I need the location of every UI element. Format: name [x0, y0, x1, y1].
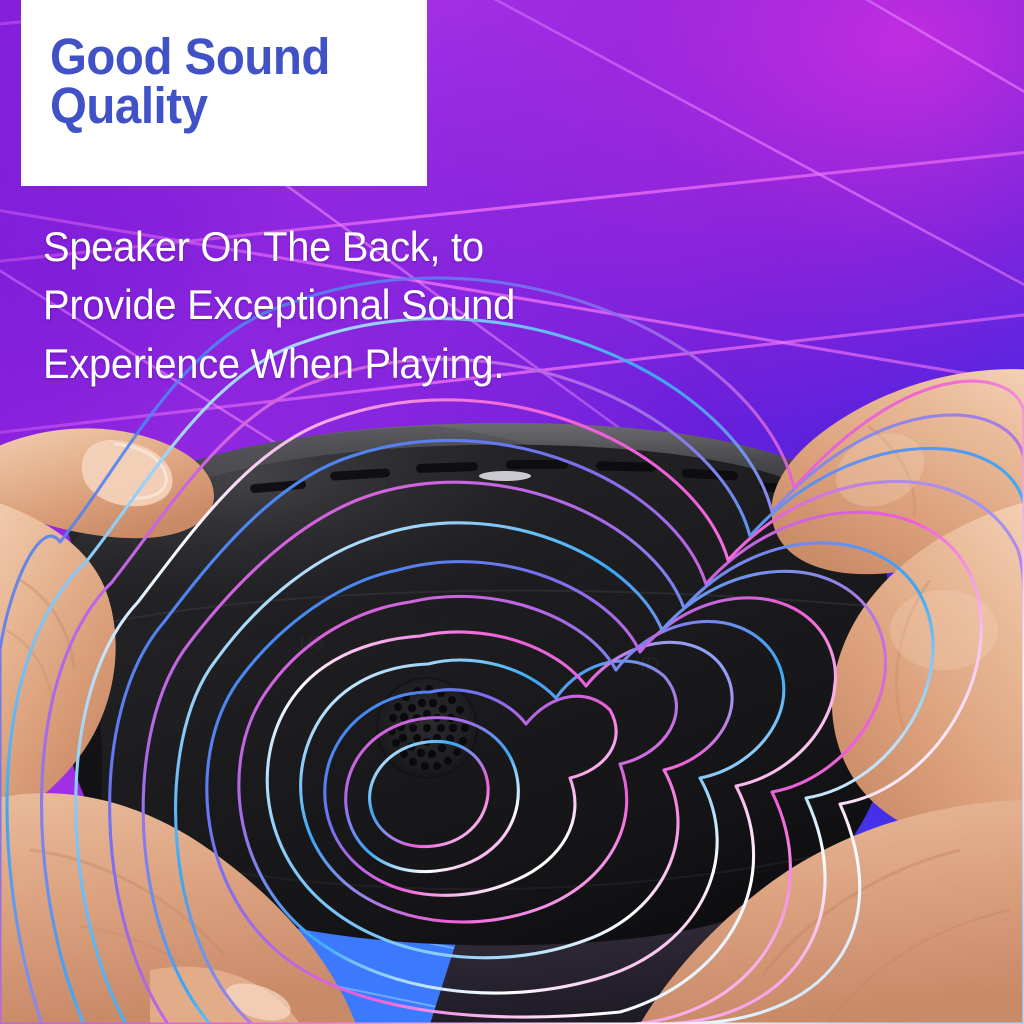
svg-text:H5: H5	[299, 633, 324, 655]
page-title: Good Sound Quality	[50, 32, 401, 131]
advertisement-canvas: H5 ID	[0, 0, 1024, 1024]
svg-text:ID: ID	[640, 654, 660, 676]
product-photo-hands-holding-console: H5 ID	[0, 330, 1024, 1024]
speaker-grille	[377, 678, 477, 778]
subtitle-text: Speaker On The Back, to Provide Exceptio…	[43, 218, 613, 393]
headline-card: Good Sound Quality	[21, 0, 427, 186]
